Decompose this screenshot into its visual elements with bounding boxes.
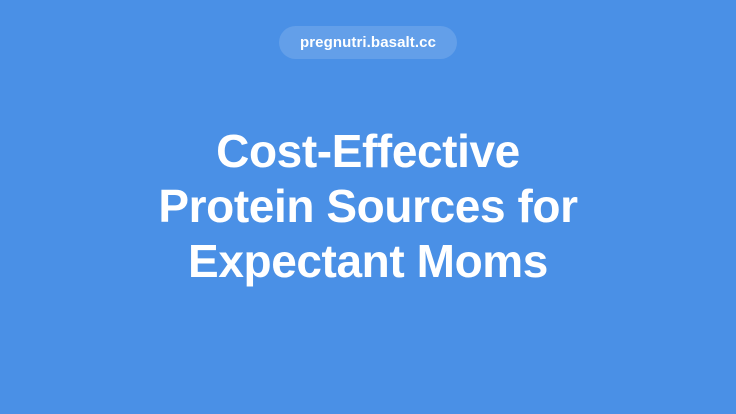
domain-badge-label: pregnutri.basalt.cc — [300, 35, 436, 50]
headline-line-1: Cost-Effective — [216, 124, 520, 179]
headline: Cost-Effective Protein Sources for Expec… — [0, 124, 736, 289]
domain-badge[interactable]: pregnutri.basalt.cc — [279, 26, 457, 59]
badge-row: pregnutri.basalt.cc — [0, 26, 736, 59]
headline-line-3: Expectant Moms — [188, 234, 548, 289]
hero-card: pregnutri.basalt.cc Cost-Effective Prote… — [0, 0, 736, 414]
headline-line-2: Protein Sources for — [158, 179, 577, 234]
